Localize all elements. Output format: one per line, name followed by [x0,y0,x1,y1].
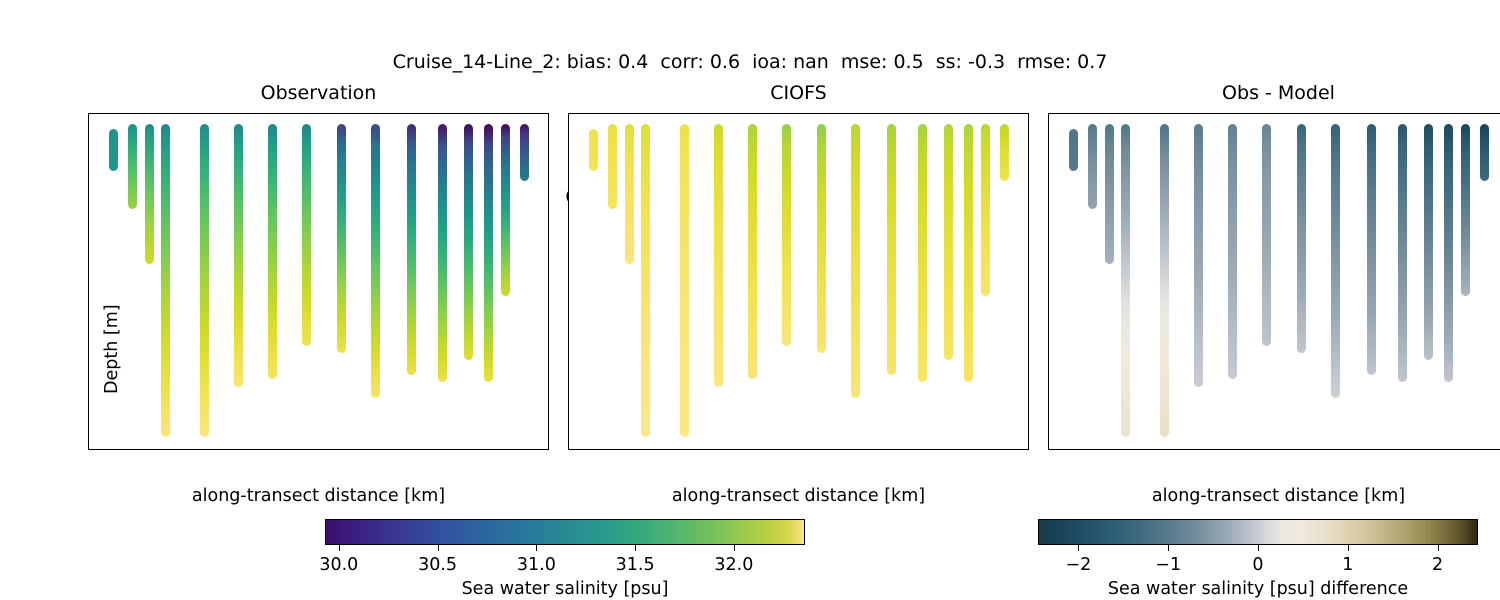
cast-profile [302,124,311,346]
panel-obs-minus-model: Obs - Model 010203040 along-transect dis… [1048,113,1500,450]
cast-profile [680,124,689,437]
colorbar-tick [339,545,340,551]
y-tick [568,253,569,254]
cast-profile [438,124,447,382]
colorbar-tick [1438,545,1439,551]
cast-profile [520,124,529,181]
colorbar-tick [1348,545,1349,551]
x-tick [113,449,114,450]
x-tick [968,449,969,450]
colorbar-tick-label: 30.0 [319,555,358,575]
cast-profile [407,124,416,375]
cast-profile [964,124,973,382]
plot-area-ciofs [569,114,1028,449]
y-tick [88,167,89,168]
figure-root: Cruise_14-Line_2: bias: 0.4 corr: 0.6 io… [0,0,1500,600]
cast-profile [109,129,118,170]
colorbar-tick-label: 1 [1342,555,1353,575]
colorbar-tick-label: 31.5 [616,555,655,575]
colorbar-tick [1168,545,1169,551]
y-tick [1048,339,1049,340]
cast-profile [268,124,277,378]
x-tick [1448,449,1449,450]
cast-profile [817,124,826,353]
cast-profile [1069,129,1078,170]
cast-profile [145,124,154,263]
colorbar-tick-label: 0 [1252,555,1263,575]
cast-profile [981,124,990,296]
cast-profile [464,124,473,360]
x-tick [687,449,688,450]
cast-profile [1194,124,1203,387]
y-tick [1048,124,1049,125]
x-tick [1167,449,1168,450]
y-tick [1048,425,1049,426]
cast-profile [782,124,791,346]
cast-profile [1444,124,1453,382]
cast-profile [1367,124,1376,375]
colorbar-gradient-salinity-difference [1038,519,1478,545]
x-tick [488,449,489,450]
colorbar-tick-label: 2 [1432,555,1443,575]
cast-profile [1262,124,1271,346]
colorbar-gradient-salinity [325,519,805,545]
x-tick [874,449,875,450]
y-tick [88,253,89,254]
y-tick [568,296,569,297]
colorbar-label-salinity: Sea water salinity [psu] [325,579,805,599]
y-tick [568,167,569,168]
cast-profile [589,129,598,170]
x-tick [1073,449,1074,450]
cast-profile [748,124,757,378]
cast-profile [1331,124,1340,397]
x-axis-label-obs-minus-model: along-transect distance [km] [1048,486,1500,506]
y-tick [568,339,569,340]
cast-profile [944,124,953,360]
panel-title-observation: Observation [88,82,549,104]
cast-profile [608,124,617,208]
colorbar-tick-label: −2 [1066,555,1092,575]
cast-profile [851,124,860,397]
y-tick [568,382,569,383]
cast-profile [484,124,493,382]
cast-profile [128,124,137,208]
y-tick [88,382,89,383]
panel-ciofs: CIOFS 010203040 along-transect distance … [568,113,1029,450]
cast-profile [501,124,510,296]
colorbar-tick-label: 32.0 [714,555,753,575]
y-tick [88,124,89,125]
cast-profile [1424,124,1433,360]
y-tick [88,339,89,340]
panel-title-obs-minus-model: Obs - Model [1048,82,1500,104]
x-tick [593,449,594,450]
panel-observation: Observation 0102030400−25−50−75−100−125−… [88,113,549,450]
colorbar-tick [635,545,636,551]
cast-profile [714,124,723,387]
x-tick [207,449,208,450]
colorbar-tick [1078,545,1079,551]
axes-frame-obs-minus-model: 010203040 [1048,113,1500,450]
colorbar-tick-label: −1 [1155,555,1181,575]
cast-profile [887,124,896,375]
y-tick [1048,382,1049,383]
y-tick [88,210,89,211]
colorbar-tick [536,545,537,551]
cast-profile [1398,124,1407,382]
y-tick [88,425,89,426]
cast-profile [1461,124,1470,296]
plot-area-observation [89,114,548,449]
colorbar-tick-label: 30.5 [418,555,457,575]
cast-profile [371,124,380,397]
axes-frame-ciofs: 010203040 [568,113,1029,450]
y-tick [568,210,569,211]
cast-profile [161,124,170,437]
cast-profile [918,124,927,382]
cast-profile [200,124,209,437]
cast-profile [1480,124,1489,181]
cast-profile [641,124,650,437]
y-tick [88,296,89,297]
x-tick [1354,449,1355,450]
x-axis-label-ciofs: along-transect distance [km] [568,486,1029,506]
y-tick [568,124,569,125]
figure-title-line-1: Cruise_14-Line_2: bias: 0.4 corr: 0.6 io… [0,51,1500,74]
y-tick [1048,210,1049,211]
x-tick [301,449,302,450]
x-tick [781,449,782,450]
cast-profile [1000,124,1009,181]
colorbar-tick [1258,545,1259,551]
cast-profile [625,124,634,263]
y-tick [1048,296,1049,297]
axes-frame-observation: 0102030400−25−50−75−100−125−150−175 [88,113,549,450]
cast-profile [1160,124,1169,437]
cast-profile [1228,124,1237,378]
x-tick [394,449,395,450]
cast-profile [337,124,346,353]
y-tick [1048,167,1049,168]
colorbar-tick [734,545,735,551]
colorbar-tick [438,545,439,551]
panel-title-ciofs: CIOFS [568,82,1029,104]
cast-profile [234,124,243,387]
x-axis-label-observation: along-transect distance [km] [88,486,549,506]
cast-profile [1121,124,1130,437]
colorbar-label-salinity-difference: Sea water salinity [psu] difference [1038,579,1478,599]
plot-area-obs-minus-model [1049,114,1500,449]
cast-profile [1297,124,1306,353]
y-tick [1048,253,1049,254]
colorbar-tick-label: 31.0 [517,555,556,575]
cast-profile [1088,124,1097,208]
x-tick [1261,449,1262,450]
y-axis-label: Depth [m] [102,304,122,394]
cast-profile [1105,124,1114,263]
y-tick [568,425,569,426]
